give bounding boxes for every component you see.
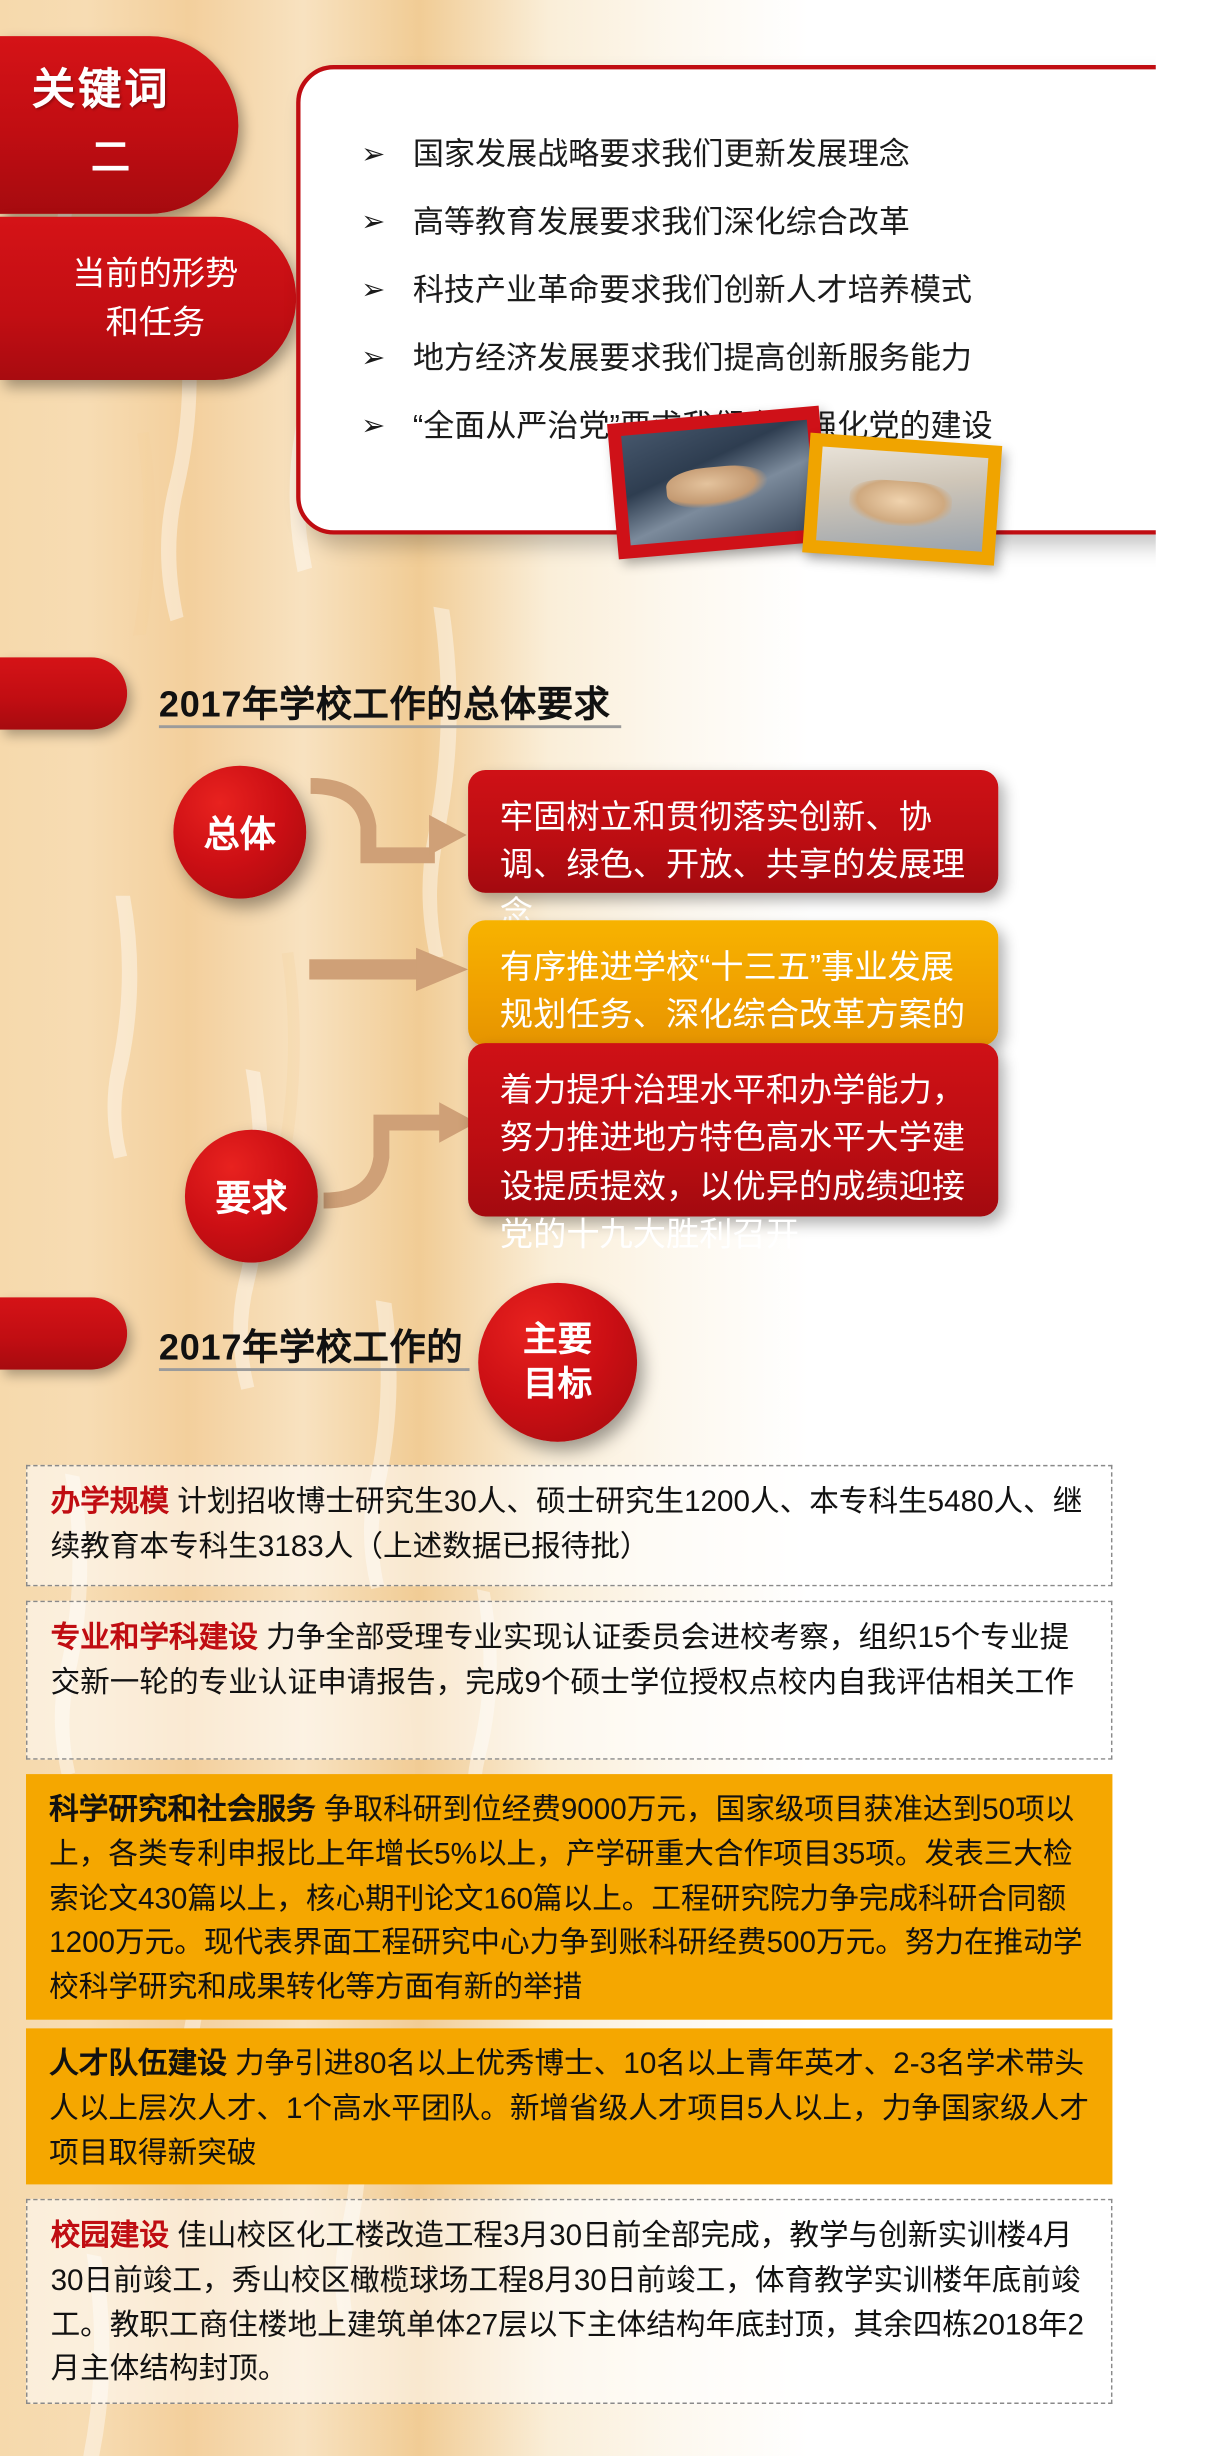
goal-title: 办学规模 <box>51 1485 169 1518</box>
arrow-bullet-icon: ➢ <box>361 339 385 378</box>
goal-block-talent: 人才队伍建设 力争引进80名以上优秀博士、10名以上青年英才、2-3名学术带头人… <box>26 2028 1112 2184</box>
goal-block-campus: 校园建设 佳山校区化工楼改造工程3月30日前全部完成，教学与创新实训楼4月30日… <box>26 2199 1112 2404</box>
list-item: ➢ 科技产业革命要求我们创新人才培养模式 <box>361 271 1156 311</box>
overall-section-rule <box>159 725 621 728</box>
slide-canvas: 关键词 二 当前的形势 和任务 ➢ 国家发展战略要求我们更新发展理念 ➢ 高等教… <box>0 0 1156 2456</box>
goal-body: 计划招收博士研究生30人、硕士研究生1200人、本专科生5480人、继续教育本专… <box>51 1485 1083 1563</box>
handshake-photo-image <box>621 420 816 546</box>
requirement-circle-text: 要求 <box>215 1170 287 1222</box>
goals-section-rule <box>159 1368 470 1371</box>
overall-statement-2: 有序推进学校“十三五”事业发展规划任务、深化综合改革方案的全面实施 <box>468 920 998 1046</box>
connector-arrow-overall <box>296 766 469 889</box>
list-item-label: 国家发展战略要求我们更新发展理念 <box>413 136 910 176</box>
keyword-badge-number: 二 <box>32 126 191 182</box>
list-item: ➢ 高等教育发展要求我们深化综合改革 <box>361 204 1156 244</box>
list-item: ➢ 地方经济发展要求我们提高创新服务能力 <box>361 339 1156 379</box>
overall-circle-label: 总体 <box>173 766 306 899</box>
goal-block-scale: 办学规模 计划招收博士研究生30人、硕士研究生1200人、本专科生5480人、继… <box>26 1465 1112 1586</box>
keyword-badge: 关键词 二 <box>0 36 238 214</box>
main-goals-circle-text: 主要 目标 <box>523 1317 592 1407</box>
goal-title: 科学研究和社会服务 <box>49 1793 316 1826</box>
goals-section-tab <box>0 1297 127 1369</box>
list-item-label: 高等教育发展要求我们深化综合改革 <box>413 204 910 244</box>
list-item-label: 地方经济发展要求我们提高创新服务能力 <box>413 339 972 379</box>
goal-block-research: 科学研究和社会服务 争取科研到位经费9000万元，国家级项目获准达到50项以上，… <box>26 1774 1112 2020</box>
connector-arrow-requirement <box>306 1062 479 1221</box>
teamwork-photo <box>802 433 1002 566</box>
arrow-bullet-icon: ➢ <box>361 204 385 243</box>
handshake-photo <box>607 406 830 560</box>
list-item-label: 科技产业革命要求我们创新人才培养模式 <box>413 271 972 311</box>
topic-badge: 当前的形势 和任务 <box>0 217 296 380</box>
list-item: ➢ 国家发展战略要求我们更新发展理念 <box>361 136 1156 176</box>
overall-statement-3: 着力提升治理水平和办学能力，努力推进地方特色高水平大学建设提质提效，以优异的成绩… <box>468 1043 998 1216</box>
overall-circle-text: 总体 <box>204 806 276 858</box>
overall-section-tab <box>0 657 127 729</box>
arrow-bullet-icon: ➢ <box>361 407 385 446</box>
keyword-badge-title: 关键词 <box>32 53 239 117</box>
arrow-bullet-icon: ➢ <box>361 271 385 310</box>
teamwork-photo-image <box>816 447 988 552</box>
goal-title: 人才队伍建设 <box>49 2047 227 2080</box>
connector-arrow-middle <box>309 936 471 1008</box>
goal-title: 专业和学科建设 <box>51 1621 258 1654</box>
goal-title: 校园建设 <box>51 2219 169 2252</box>
main-goals-circle-label: 主要 目标 <box>478 1283 637 1442</box>
topic-badge-label: 当前的形势 和任务 <box>72 250 238 346</box>
goal-block-disciplines: 专业和学科建设 力争全部受理专业实现认证委员会进校考察，组织15个专业提交新一轮… <box>26 1601 1112 1760</box>
requirement-circle-label: 要求 <box>185 1130 318 1263</box>
arrow-bullet-icon: ➢ <box>361 136 385 175</box>
goal-body: 佳山校区化工楼改造工程3月30日前全部完成，教学与创新实训楼4月30日前竣工，秀… <box>51 2219 1084 2386</box>
overall-section-heading: 2017年学校工作的总体要求 <box>159 676 766 728</box>
overall-statement-1: 牢固树立和贯彻落实创新、协调、绿色、开放、共享的发展理念 <box>468 770 998 893</box>
